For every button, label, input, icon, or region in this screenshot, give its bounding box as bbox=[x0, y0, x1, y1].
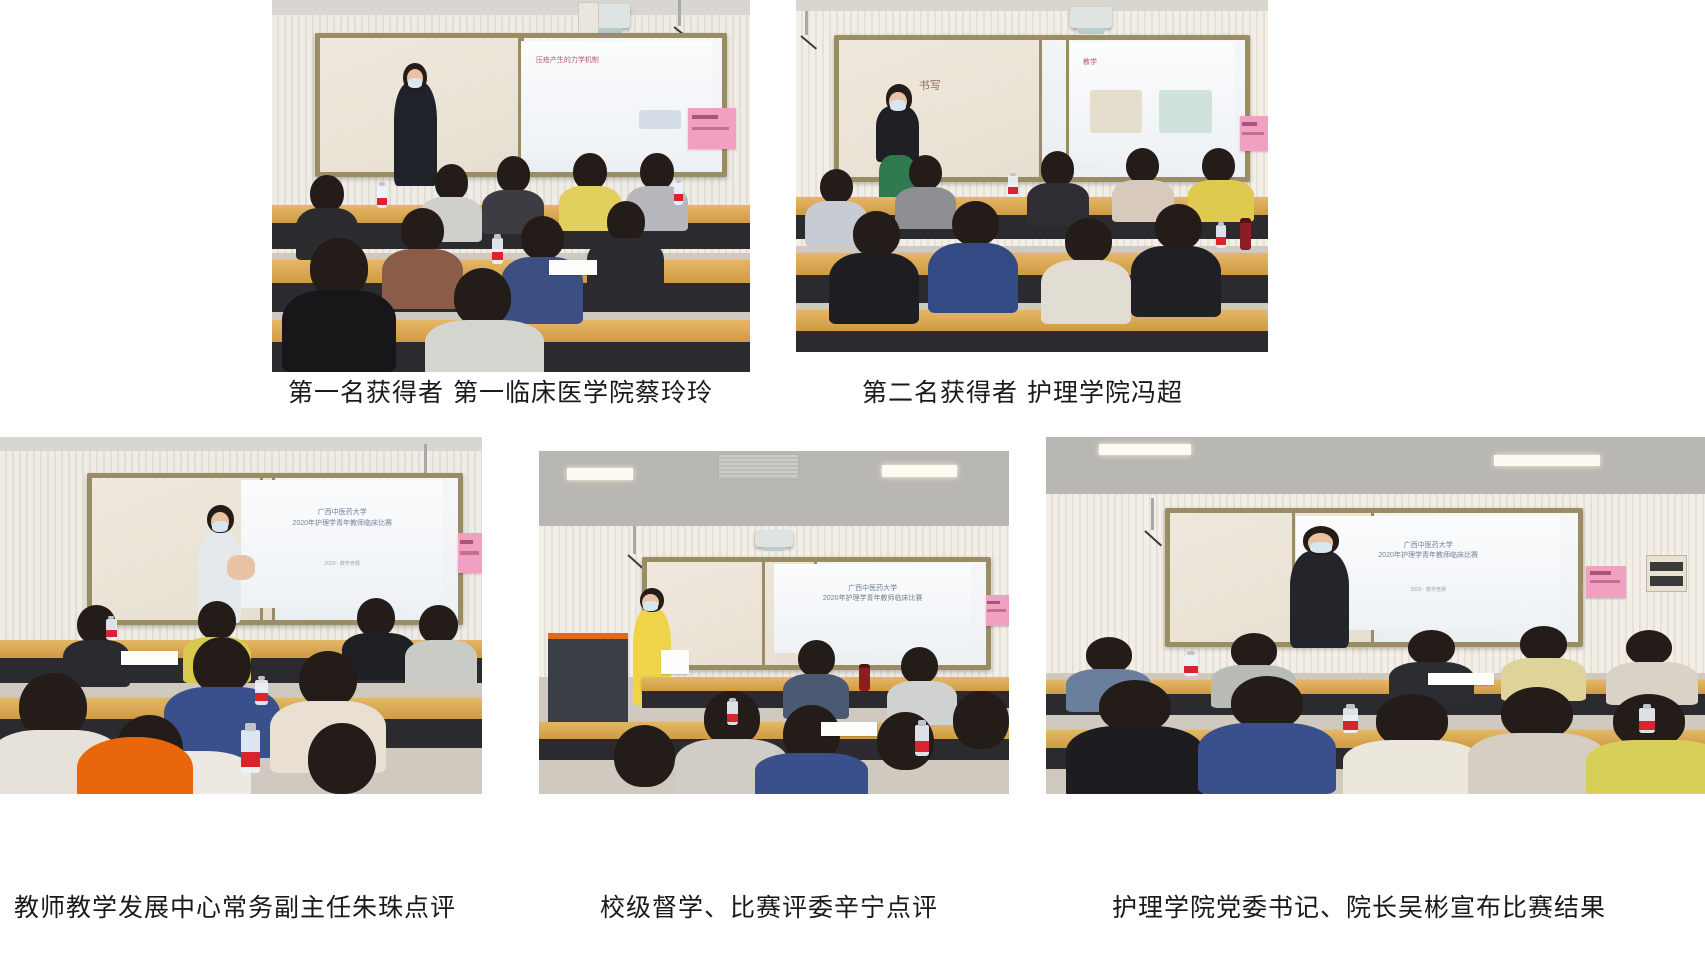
audience-head bbox=[1041, 151, 1074, 186]
water-bottle bbox=[377, 186, 387, 208]
face-mask-icon bbox=[1310, 542, 1332, 553]
audience-head bbox=[1626, 630, 1672, 666]
water-bottle bbox=[106, 619, 117, 640]
presenter-body bbox=[1290, 551, 1349, 647]
photo-4: 广西中医药大学 2020年护理学青年教师临床比赛 bbox=[539, 451, 1009, 794]
audience-head bbox=[310, 175, 343, 212]
slide-title: 广西中医药大学 2020年护理学青年教师临床比赛 bbox=[774, 584, 971, 605]
wall-poster bbox=[688, 108, 736, 149]
slide-logo-text: 压疮产生的力学机制 bbox=[536, 55, 599, 65]
water-bottle bbox=[674, 182, 684, 204]
paper-sheet bbox=[121, 651, 179, 665]
water-bottle bbox=[241, 730, 260, 773]
face-mask-icon bbox=[212, 521, 228, 532]
thermos bbox=[1240, 218, 1251, 250]
photo-5: 广西中医药大学 2020年护理学青年教师临床比赛 2020 · 教学竞赛 bbox=[1046, 437, 1705, 794]
wall-panel bbox=[1646, 555, 1688, 593]
air-conditioner bbox=[718, 454, 800, 480]
paper-sheet bbox=[661, 650, 689, 674]
water-bottle bbox=[1343, 708, 1359, 733]
photo-3-caption: 教师教学发展中心常务副主任朱珠点评 bbox=[14, 895, 456, 920]
paper-sheet bbox=[1428, 673, 1494, 685]
photo-1-caption: 第一名获得者 第一临床医学院蔡玲玲 bbox=[288, 380, 713, 405]
projection-screen: 教学 bbox=[1070, 42, 1235, 162]
audience-head bbox=[901, 647, 939, 685]
water-bottle bbox=[1216, 225, 1226, 248]
face-mask-icon bbox=[408, 78, 422, 88]
audience-head bbox=[401, 208, 444, 253]
photo-2: 教学 书写 bbox=[796, 0, 1268, 352]
face-mask-icon bbox=[643, 601, 658, 611]
audience-head bbox=[1065, 218, 1112, 264]
audience-head bbox=[573, 153, 606, 190]
audience-body-orange bbox=[77, 737, 193, 794]
presenter-body bbox=[394, 82, 437, 186]
audience-head bbox=[853, 211, 900, 257]
projector-mount bbox=[578, 2, 599, 37]
audience-head bbox=[454, 268, 511, 328]
audience-head bbox=[310, 238, 367, 298]
audience-head bbox=[820, 169, 853, 204]
slide-subtitle: 2020 · 教学竞赛 bbox=[241, 560, 443, 567]
audience-head bbox=[435, 164, 468, 201]
photo-1: 压疮产生的力学机制 bbox=[272, 0, 750, 372]
audience-head bbox=[198, 601, 237, 640]
audience-head bbox=[952, 201, 999, 247]
presenter-hand bbox=[227, 555, 256, 580]
audience-head bbox=[1126, 148, 1159, 183]
audience-head bbox=[299, 651, 357, 708]
ceiling-light bbox=[882, 465, 957, 477]
whiteboard-writing: 书写 bbox=[919, 77, 947, 109]
audience-head bbox=[1231, 676, 1303, 730]
projector-icon bbox=[755, 530, 793, 547]
projection-screen: 广西中医药大学 2020年护理学青年教师临床比赛 bbox=[774, 564, 971, 653]
water-bottle bbox=[255, 680, 268, 705]
audience-head bbox=[1520, 626, 1566, 662]
slide-title: 广西中医药大学 2020年护理学青年教师临床比赛 bbox=[241, 508, 443, 529]
audience-head bbox=[953, 691, 1009, 749]
audience-head bbox=[419, 605, 458, 644]
ceiling-light bbox=[567, 468, 633, 480]
presenter-body bbox=[876, 106, 918, 162]
paper-sheet bbox=[549, 260, 597, 275]
photo-2-caption: 第二名获得者 护理学院冯超 bbox=[862, 380, 1183, 405]
water-bottle bbox=[492, 238, 503, 264]
podium bbox=[548, 633, 628, 728]
photo-4-caption: 校级督学、比赛评委辛宁点评 bbox=[600, 895, 938, 920]
audience-head bbox=[1231, 633, 1277, 669]
slide-logo-text: 教学 bbox=[1083, 57, 1097, 67]
audience-head bbox=[357, 598, 396, 637]
audience-head bbox=[308, 723, 375, 794]
audience-head bbox=[798, 640, 836, 678]
projection-screen: 压疮产生的力学机制 bbox=[521, 41, 712, 160]
thermos bbox=[859, 664, 870, 691]
photo-grid-page: 压疮产生的力学机制 bbox=[0, 0, 1705, 959]
ceiling-light bbox=[1494, 455, 1599, 466]
audience-head bbox=[1155, 204, 1202, 250]
photo-3: 广西中医药大学 2020年护理学青年教师临床比赛 2020 · 教学竞赛 bbox=[0, 437, 482, 794]
water-bottle bbox=[915, 725, 929, 756]
wall-poster bbox=[458, 533, 482, 572]
face-mask-icon bbox=[890, 100, 906, 111]
projection-screen: 广西中医药大学 2020年护理学青年教师临床比赛 2020 · 教学竞赛 bbox=[241, 480, 443, 609]
wall-poster bbox=[1586, 566, 1626, 598]
wall-poster bbox=[1240, 116, 1268, 151]
audience-head bbox=[607, 201, 645, 242]
water-bottle bbox=[1639, 708, 1655, 733]
wall-poster bbox=[986, 595, 1010, 626]
water-bottle bbox=[1184, 655, 1197, 676]
projector-icon bbox=[1070, 7, 1112, 28]
audience-head bbox=[1086, 637, 1132, 673]
audience-head bbox=[1202, 148, 1235, 183]
audience-head bbox=[614, 725, 675, 787]
water-bottle bbox=[1008, 176, 1017, 197]
audience-head bbox=[1408, 630, 1454, 666]
audience-head bbox=[640, 153, 673, 190]
photo-5-caption: 护理学院党委书记、院长吴彬宣布比赛结果 bbox=[1112, 895, 1606, 920]
audience-head bbox=[497, 156, 530, 193]
paper-sheet bbox=[821, 722, 877, 736]
audience-head bbox=[193, 637, 251, 694]
ceiling-light bbox=[1099, 444, 1191, 455]
audience-head bbox=[521, 216, 564, 261]
audience-head bbox=[909, 155, 942, 190]
water-bottle bbox=[727, 701, 738, 725]
hanging-rod bbox=[678, 0, 681, 26]
